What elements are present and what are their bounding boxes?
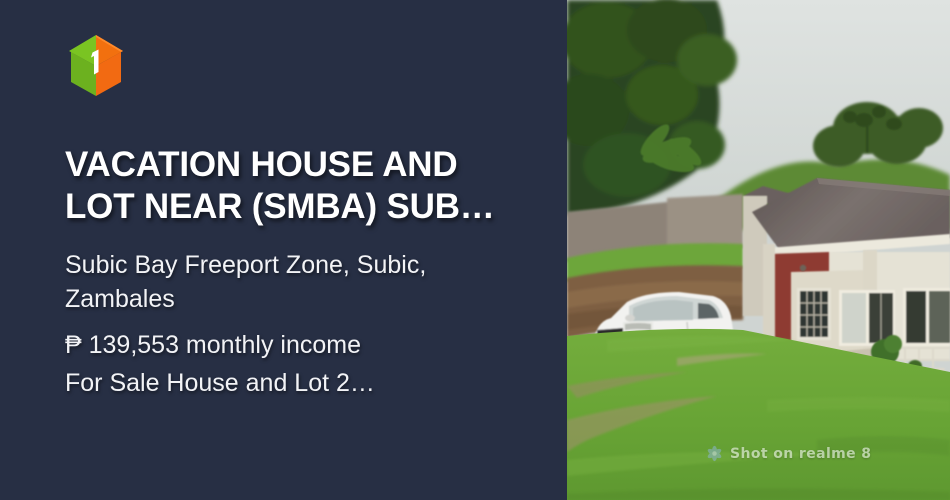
listing-info-panel: VACATION HOUSE AND LOT NEAR (SMBA) SUB… … [0, 0, 567, 500]
property-listing-card: VACATION HOUSE AND LOT NEAR (SMBA) SUB… … [0, 0, 950, 500]
page-title: VACATION HOUSE AND LOT NEAR (SMBA) SUB… [65, 144, 527, 227]
listing-address: Subic Bay Freeport Zone, Subic, Zambales [65, 249, 505, 316]
listing-price: ₱ 139,553 monthly income [65, 328, 527, 362]
house-logo-icon [65, 28, 127, 100]
property-photo: Shot on realme 8 [567, 0, 950, 500]
listing-meta: For Sale House and Lot 2… [65, 366, 527, 400]
property-photo-image [567, 0, 950, 500]
